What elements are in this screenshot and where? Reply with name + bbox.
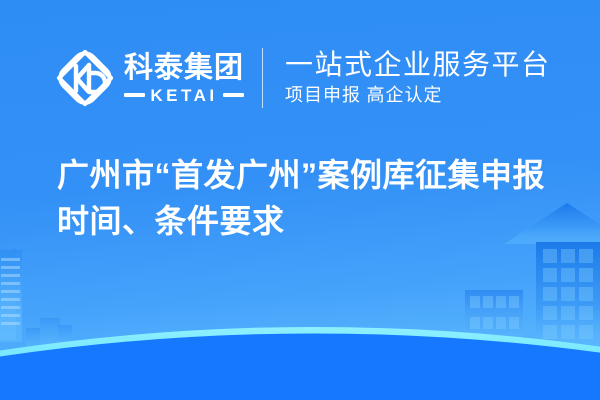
banner-header: 科泰集团 KETAI 一站式企业服务平台 项目申报 高企认定 bbox=[0, 38, 600, 118]
lowrise-building-icon bbox=[465, 290, 523, 350]
promo-banner: 科泰集团 KETAI 一站式企业服务平台 项目申报 高企认定 广州市“首发广州”… bbox=[0, 0, 600, 400]
brand-logo[interactable]: 科泰集团 KETAI bbox=[56, 49, 244, 107]
wordmark-rule-right bbox=[223, 93, 244, 97]
midrise-building-icon bbox=[26, 318, 72, 350]
tagline-secondary: 项目申报 高企认定 bbox=[285, 85, 551, 107]
brand-name-cn: 科泰集团 bbox=[124, 54, 244, 84]
striped-skyscraper-icon bbox=[0, 248, 22, 342]
vertical-divider-icon bbox=[262, 48, 263, 108]
wordmark-rule-left bbox=[124, 93, 145, 97]
brand-name-en-row: KETAI bbox=[124, 87, 244, 104]
brand-wordmark: 科泰集团 KETAI bbox=[124, 54, 244, 104]
ketai-diamond-monogram-icon bbox=[56, 49, 114, 107]
brand-name-en: KETAI bbox=[150, 87, 217, 104]
tagline-primary: 一站式企业服务平台 bbox=[285, 49, 551, 80]
page-title: 广州市“首发广州”案例库征集申报时间、条件要求 bbox=[57, 152, 557, 245]
curved-ground-arc-icon bbox=[0, 327, 600, 400]
tagline-block: 一站式企业服务平台 项目申报 高企认定 bbox=[285, 49, 551, 107]
